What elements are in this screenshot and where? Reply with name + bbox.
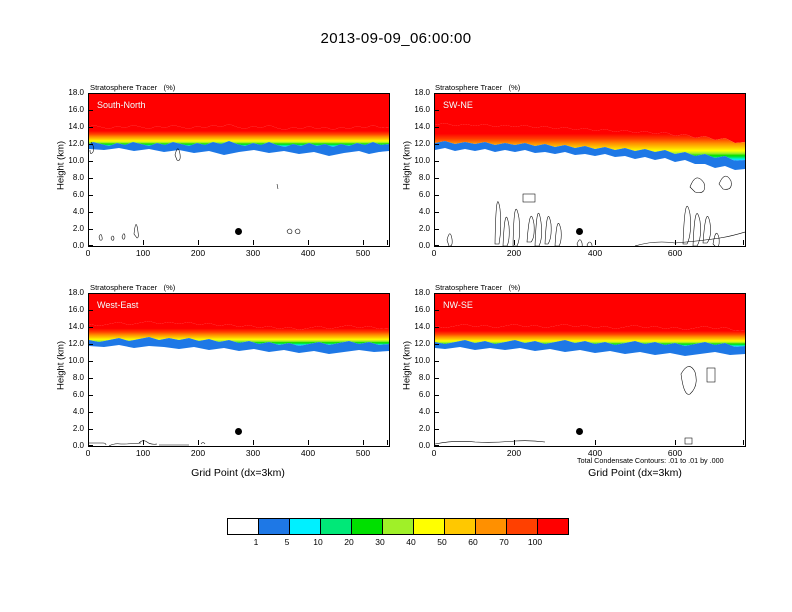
colorbar-swatch-7 xyxy=(445,519,476,534)
panel-label-nw-se: NW-SE xyxy=(443,300,473,310)
y-tick-4: 4.0 xyxy=(52,407,84,416)
colorbar-swatch-5 xyxy=(383,519,414,534)
colorbar-strip xyxy=(227,518,569,535)
y-tick-18: 18.0 xyxy=(52,88,84,97)
location-marker-west-east xyxy=(235,428,242,435)
x-tick-200: 200 xyxy=(502,248,526,258)
colorbar-label-60: 60 xyxy=(461,537,485,547)
x-axis-label-right: Grid Point (dx=3km) xyxy=(545,467,725,479)
colorbar-label-30: 30 xyxy=(368,537,392,547)
colorbar-swatch-3 xyxy=(321,519,352,534)
x-tick-200: 200 xyxy=(186,248,210,258)
y-tick-10: 10.0 xyxy=(52,156,84,165)
y-tick-18: 18.0 xyxy=(398,88,430,97)
x-tick-600: 600 xyxy=(663,248,687,258)
plot-area-nw-se: NW-SE xyxy=(434,293,746,447)
x-tick-300: 300 xyxy=(241,448,265,458)
colorbar-label-70: 70 xyxy=(492,537,516,547)
contour-plot-west-east xyxy=(89,294,389,446)
y-tick-16: 16.0 xyxy=(398,305,430,314)
panel-label-south-north: South-North xyxy=(97,100,146,110)
figure-canvas: 2013-09-09_06:00:00 Stratosphere Tracer … xyxy=(0,0,792,612)
y-tick-16: 16.0 xyxy=(52,305,84,314)
colorbar-swatch-9 xyxy=(507,519,538,534)
colorbar-swatch-1 xyxy=(259,519,290,534)
y-tick-2: 2.0 xyxy=(52,424,84,433)
y-tick-12: 12.0 xyxy=(398,339,430,348)
x-tick-100: 100 xyxy=(131,248,155,258)
y-tick-14: 14.0 xyxy=(52,322,84,331)
x-tick-400: 400 xyxy=(583,248,607,258)
contour-plot-sw-ne xyxy=(435,94,745,246)
x-tick-400: 400 xyxy=(296,248,320,258)
y-tick-16: 16.0 xyxy=(398,105,430,114)
y-tick-10: 10.0 xyxy=(398,156,430,165)
y-tick-14: 14.0 xyxy=(52,122,84,131)
y-tick-10: 10.0 xyxy=(398,356,430,365)
header-line1: Stratosphere Tracer (%) xyxy=(435,83,520,93)
y-tick-4: 4.0 xyxy=(398,207,430,216)
plot-area-south-north: South-North xyxy=(88,93,390,247)
colorbar-swatch-8 xyxy=(476,519,507,534)
x-tick-100: 100 xyxy=(131,448,155,458)
y-tick-18: 18.0 xyxy=(52,288,84,297)
y-tick-10: 10.0 xyxy=(52,356,84,365)
panel-label-sw-ne: SW-NE xyxy=(443,100,473,110)
location-marker-south-north xyxy=(235,228,242,235)
x-tick-200: 200 xyxy=(502,448,526,458)
y-tick-4: 4.0 xyxy=(398,407,430,416)
x-tick-500: 500 xyxy=(351,248,375,258)
plot-area-sw-ne: SW-NE xyxy=(434,93,746,247)
colorbar-swatch-6 xyxy=(414,519,445,534)
y-tick-6: 6.0 xyxy=(52,190,84,199)
y-tick-18: 18.0 xyxy=(398,288,430,297)
x-axis-label-left: Grid Point (dx=3km) xyxy=(148,467,328,479)
y-tick-12: 12.0 xyxy=(398,139,430,148)
x-tick-200: 200 xyxy=(186,448,210,458)
header-line1: Stratosphere Tracer (%) xyxy=(435,283,520,293)
y-tick-14: 14.0 xyxy=(398,122,430,131)
colorbar-label-40: 40 xyxy=(399,537,423,547)
y-tick-2: 2.0 xyxy=(398,424,430,433)
panel-label-west-east: West-East xyxy=(97,300,138,310)
y-tick-6: 6.0 xyxy=(52,390,84,399)
y-tick-14: 14.0 xyxy=(398,322,430,331)
y-tick-12: 12.0 xyxy=(52,339,84,348)
colorbar-swatch-2 xyxy=(290,519,321,534)
colorbar-label-100: 100 xyxy=(521,537,549,547)
y-tick-6: 6.0 xyxy=(398,390,430,399)
x-tick-0: 0 xyxy=(76,448,100,458)
header-line1: Stratosphere Tracer (%) xyxy=(90,83,175,93)
contour-plot-nw-se xyxy=(435,294,745,446)
contour-footnote: Total Condensate Contours: .01 to .01 by… xyxy=(577,456,724,465)
y-tick-8: 8.0 xyxy=(398,173,430,182)
x-tick-500: 500 xyxy=(351,448,375,458)
y-tick-12: 12.0 xyxy=(52,139,84,148)
y-tick-2: 2.0 xyxy=(398,224,430,233)
colorbar-label-20: 20 xyxy=(337,537,361,547)
location-marker-sw-ne xyxy=(576,228,583,235)
y-tick-2: 2.0 xyxy=(52,224,84,233)
x-tick-0: 0 xyxy=(422,248,446,258)
location-marker-nw-se xyxy=(576,428,583,435)
y-tick-8: 8.0 xyxy=(398,373,430,382)
x-tick-400: 400 xyxy=(296,448,320,458)
header-line1: Stratosphere Tracer (%) xyxy=(90,283,175,293)
y-tick-16: 16.0 xyxy=(52,105,84,114)
y-tick-8: 8.0 xyxy=(52,173,84,182)
colorbar-label-5: 5 xyxy=(275,537,299,547)
colorbar-swatch-4 xyxy=(352,519,383,534)
colorbar-label-50: 50 xyxy=(430,537,454,547)
x-tick-300: 300 xyxy=(241,248,265,258)
plot-area-west-east: West-East xyxy=(88,293,390,447)
colorbar-swatch-10 xyxy=(538,519,568,534)
y-tick-6: 6.0 xyxy=(398,190,430,199)
colorbar-label-10: 10 xyxy=(306,537,330,547)
colorbar-label-1: 1 xyxy=(244,537,268,547)
contour-plot-south-north xyxy=(89,94,389,246)
x-tick-0: 0 xyxy=(76,248,100,258)
y-tick-8: 8.0 xyxy=(52,373,84,382)
x-tick-0: 0 xyxy=(422,448,446,458)
y-tick-4: 4.0 xyxy=(52,207,84,216)
figure-title: 2013-09-09_06:00:00 xyxy=(0,30,792,47)
colorbar-swatch-0 xyxy=(228,519,259,534)
